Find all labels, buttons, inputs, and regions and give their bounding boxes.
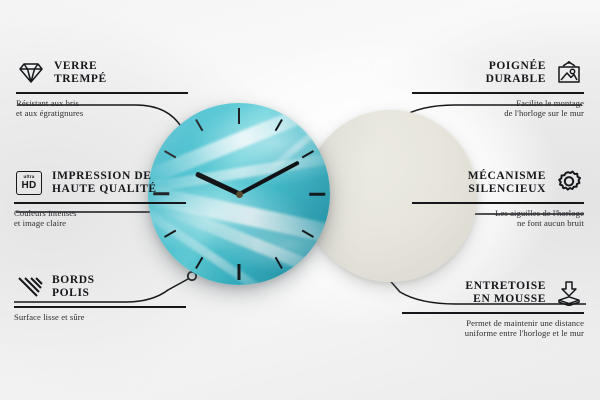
feature-header: ultra HD IMPRESSION DE HAUTE QUALITÉ — [14, 168, 186, 198]
feature-title-line1: MÉCANISME — [468, 170, 546, 184]
feature-desc-line1: Résistant aux bris — [16, 98, 188, 109]
feature-title-line1: BORDS — [52, 274, 95, 288]
feature-desc-line1: Les aiguilles de l'horloge — [412, 208, 584, 219]
feature-divider — [14, 306, 186, 308]
hanging-frame-icon — [554, 58, 584, 88]
feature-desc-line2: de l'horloge sur le mur — [412, 108, 584, 119]
foam-spacer-icon — [554, 278, 584, 308]
feature-title-line1: VERRE — [54, 60, 107, 74]
feature-header: MÉCANISME SILENCIEUX — [412, 168, 584, 198]
ultra-hd-icon: ultra HD — [14, 168, 44, 198]
polished-edges-icon — [14, 272, 44, 302]
feature-mecanisme-silencieux: MÉCANISME SILENCIEUX Les aiguilles de l'… — [412, 168, 584, 229]
feature-desc-line2: et image claire — [14, 218, 186, 229]
feature-title-line2: TREMPÉ — [54, 73, 107, 87]
feature-title: ENTRETOISE EN MOUSSE — [465, 280, 546, 307]
feature-desc-line1: Couleurs intenses — [14, 208, 186, 219]
feature-impression-haute-qualite: ultra HD IMPRESSION DE HAUTE QUALITÉ Cou… — [14, 168, 186, 229]
feature-header: ENTRETOISE EN MOUSSE — [402, 278, 584, 308]
feature-header: POIGNÉE DURABLE — [412, 58, 584, 88]
feature-verre-trempe: VERRE TREMPÉ Résistant aux bris et aux é… — [16, 58, 188, 119]
ultra-hd-badge: ultra HD — [16, 171, 42, 195]
feature-title: VERRE TREMPÉ — [54, 60, 107, 87]
diamond-icon — [16, 58, 46, 88]
feature-poignee-durable: POIGNÉE DURABLE Facilite le montage de l… — [412, 58, 584, 119]
feature-title-line2: EN MOUSSE — [465, 293, 546, 307]
feature-desc-line1: Permet de maintenir une distance — [402, 318, 584, 329]
feature-title-line2: HAUTE QUALITÉ — [52, 183, 157, 197]
gear-icon — [554, 168, 584, 198]
feature-divider — [412, 202, 584, 204]
infographic-canvas: AA 1.5V — [0, 0, 600, 400]
feature-bords-polis: BORDS POLIS Surface lisse et sûre — [14, 272, 186, 322]
feature-divider — [16, 92, 188, 94]
feature-title: MÉCANISME SILENCIEUX — [468, 170, 546, 197]
feature-divider — [402, 312, 584, 314]
feature-desc-line1: Surface lisse et sûre — [14, 312, 186, 323]
feature-title-line1: POIGNÉE — [486, 60, 546, 74]
feature-divider — [14, 202, 186, 204]
feature-header: VERRE TREMPÉ — [16, 58, 188, 88]
feature-title: BORDS POLIS — [52, 274, 95, 301]
feature-desc-line2: uniforme entre l'horloge et le mur — [402, 328, 584, 339]
feature-desc-line2: et aux égratignures — [16, 108, 188, 119]
feature-title: POIGNÉE DURABLE — [486, 60, 546, 87]
feature-title: IMPRESSION DE HAUTE QUALITÉ — [52, 170, 157, 197]
feature-desc-line2: ne font aucun bruit — [412, 218, 584, 229]
feature-divider — [412, 92, 584, 94]
feature-entretoise-en-mousse: ENTRETOISE EN MOUSSE Permet de maintenir… — [402, 278, 584, 339]
feature-title-line2: POLIS — [52, 287, 95, 301]
feature-title-line2: SILENCIEUX — [468, 183, 546, 197]
ultra-hd-main-label: HD — [21, 181, 36, 191]
feature-title-line1: ENTRETOISE — [465, 280, 546, 294]
feature-header: BORDS POLIS — [14, 272, 186, 302]
feature-desc-line1: Facilite le montage — [412, 98, 584, 109]
feature-title-line2: DURABLE — [486, 73, 546, 87]
feature-title-line1: IMPRESSION DE — [52, 170, 157, 184]
